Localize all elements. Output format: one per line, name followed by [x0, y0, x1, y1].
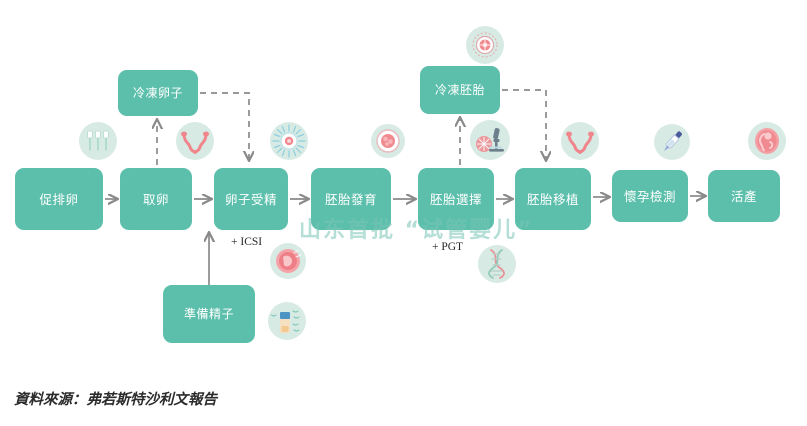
pipette-dropper-icon	[654, 124, 690, 160]
node-frozen-embryos[interactable]: 冷凍胚胎	[420, 66, 500, 114]
flowchart-canvas: 促排卵 取卵 卵子受精 胚胎發育 胚胎選擇 胚胎移植 懷孕檢測 活產 冷凍卵子 …	[0, 0, 807, 426]
node-embryo-transfer[interactable]: 胚胎移植	[515, 168, 591, 230]
node-embryo-development[interactable]: 胚胎發育	[311, 168, 391, 230]
frozen-egg-vial-icon	[466, 26, 504, 64]
node-frozen-eggs[interactable]: 冷凍卵子	[118, 70, 198, 116]
sperm-around-egg-icon	[270, 122, 308, 160]
dna-helix-icon	[478, 245, 516, 283]
embryo-cell-icon	[371, 124, 405, 158]
syringes-icon	[79, 122, 117, 160]
node-egg-retrieval[interactable]: 取卵	[120, 168, 192, 230]
sperm-sample-cup-icon	[268, 302, 306, 340]
node-fertilization[interactable]: 卵子受精	[214, 168, 288, 230]
uterus-icon	[176, 122, 214, 160]
uterus-icon	[561, 122, 599, 160]
node-embryo-selection[interactable]: 胚胎選擇	[418, 168, 494, 230]
microscope-icon	[470, 120, 510, 160]
source-note: 資料來源：弗若斯特沙利文報告	[14, 388, 217, 409]
pgt-label: + PGT	[432, 241, 463, 253]
icsi-label: + ICSI	[231, 236, 262, 248]
node-pregnancy-test[interactable]: 懷孕檢測	[612, 170, 688, 222]
zygote-icon	[270, 243, 306, 279]
node-sperm-preparation[interactable]: 準備精子	[163, 285, 255, 343]
arrow-frozen-embryos-to-transfer	[502, 90, 546, 160]
node-stimulation[interactable]: 促排卵	[15, 168, 103, 230]
fetus-icon	[748, 122, 786, 160]
node-live-birth[interactable]: 活產	[708, 170, 780, 222]
